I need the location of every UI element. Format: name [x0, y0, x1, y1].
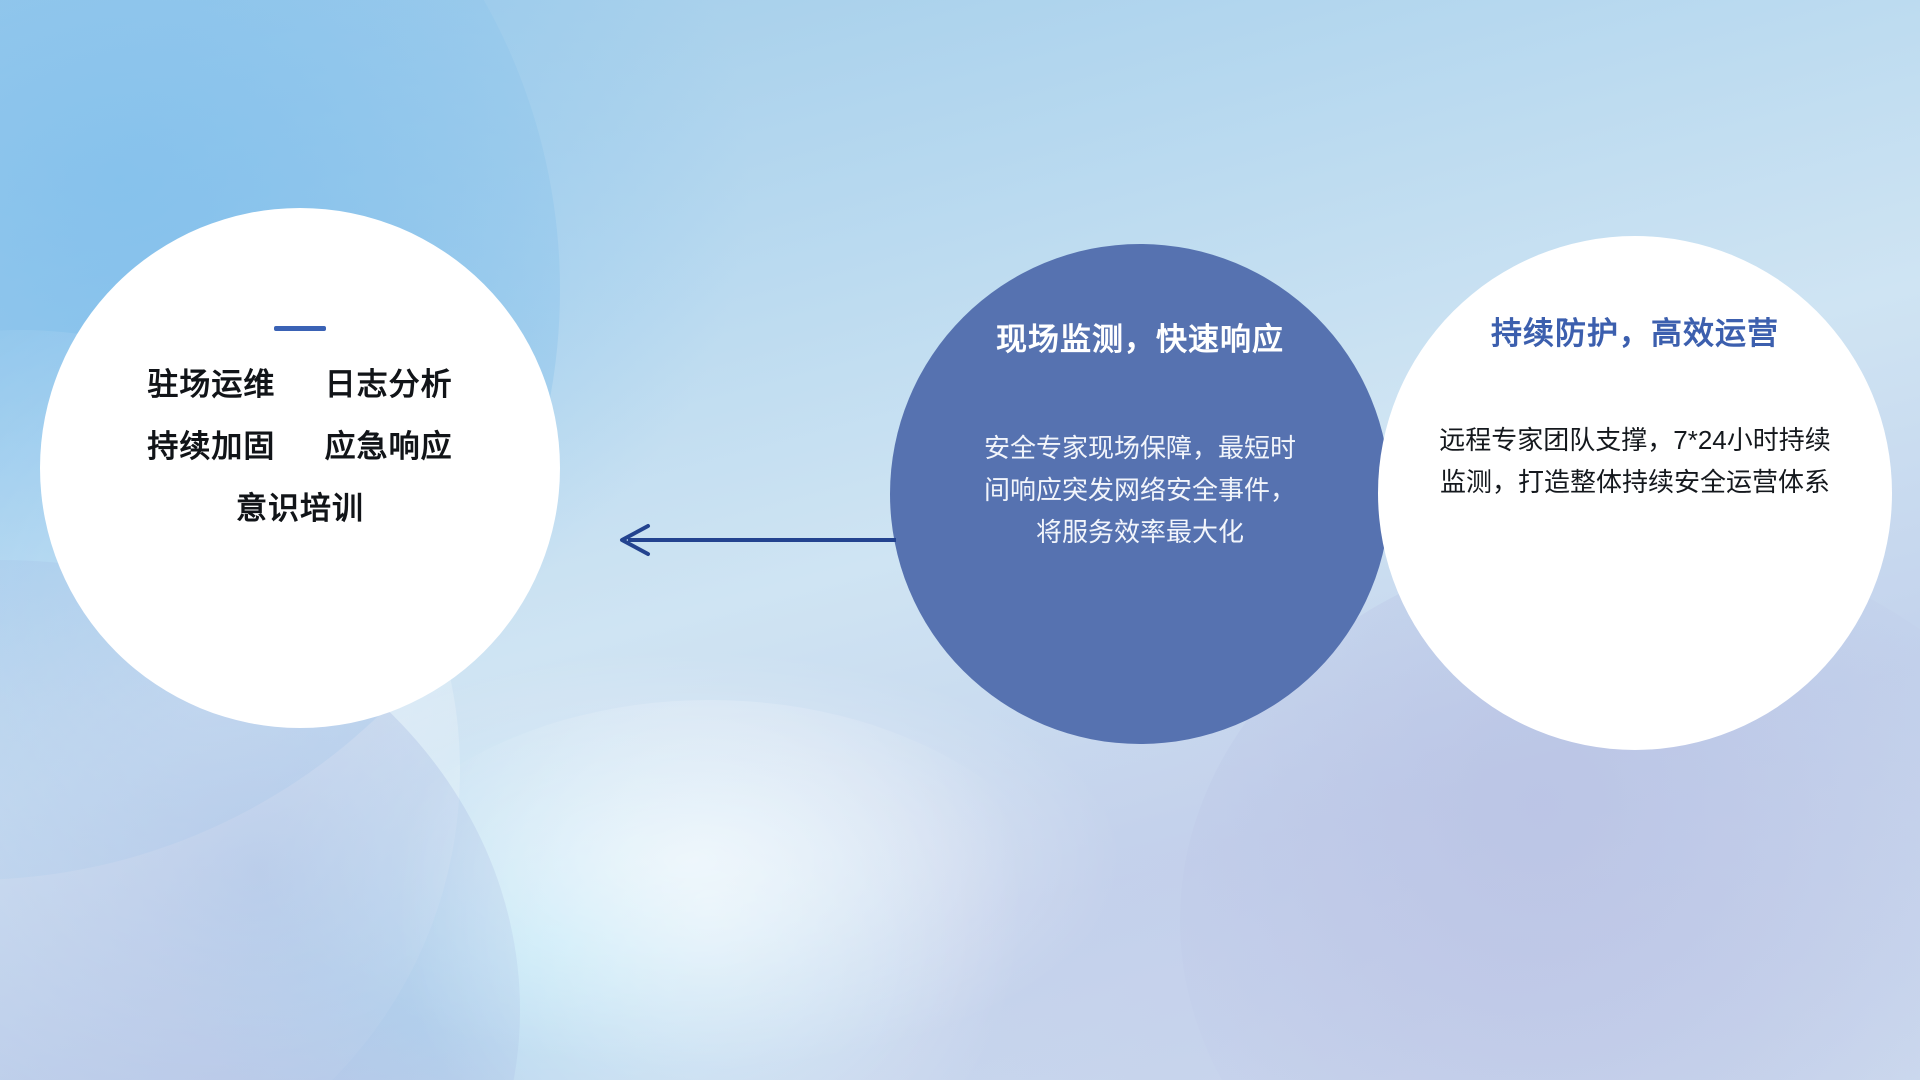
mid-onsite-circle: 现场监测，快速响应 安全专家现场保障，最短时间响应突发网络安全事件，将服务效率最…	[890, 244, 1390, 744]
keyword-row-2: 持续加固 应急响应	[147, 431, 452, 462]
keyword-2b: 应急响应	[325, 429, 453, 464]
keyword-1a: 驻场运维	[147, 367, 275, 402]
keyword-row-3: 意识培训	[236, 493, 364, 524]
right-circle-title: 持续防护，高效运营	[1491, 308, 1779, 353]
mid-circle-title: 现场监测，快速响应	[996, 314, 1284, 359]
keyword-row-1: 驻场运维 日志分析	[147, 369, 452, 400]
background-streak-bottom-center	[330, 700, 1090, 1080]
right-circle-body: 远程专家团队支撑，7*24小时持续监测，打造整体持续安全运营体系	[1435, 419, 1835, 503]
keyword-1b: 日志分析	[325, 367, 453, 402]
mid-circle-body: 安全专家现场保障，最短时间响应突发网络安全事件，将服务效率最大化	[975, 427, 1305, 553]
slide-canvas: 驻场运维 日志分析 持续加固 应急响应 意识培训 现场监测，快速响应 安全专家现…	[0, 0, 1920, 1080]
dash-divider-icon	[274, 326, 326, 331]
keyword-3a: 意识培训	[236, 491, 364, 526]
right-continuous-circle: 持续防护，高效运营 远程专家团队支撑，7*24小时持续监测，打造整体持续安全运营…	[1378, 236, 1892, 750]
left-keywords-circle: 驻场运维 日志分析 持续加固 应急响应 意识培训	[40, 208, 560, 728]
keyword-2a: 持续加固	[147, 429, 275, 464]
left-arrow-icon	[608, 520, 898, 560]
